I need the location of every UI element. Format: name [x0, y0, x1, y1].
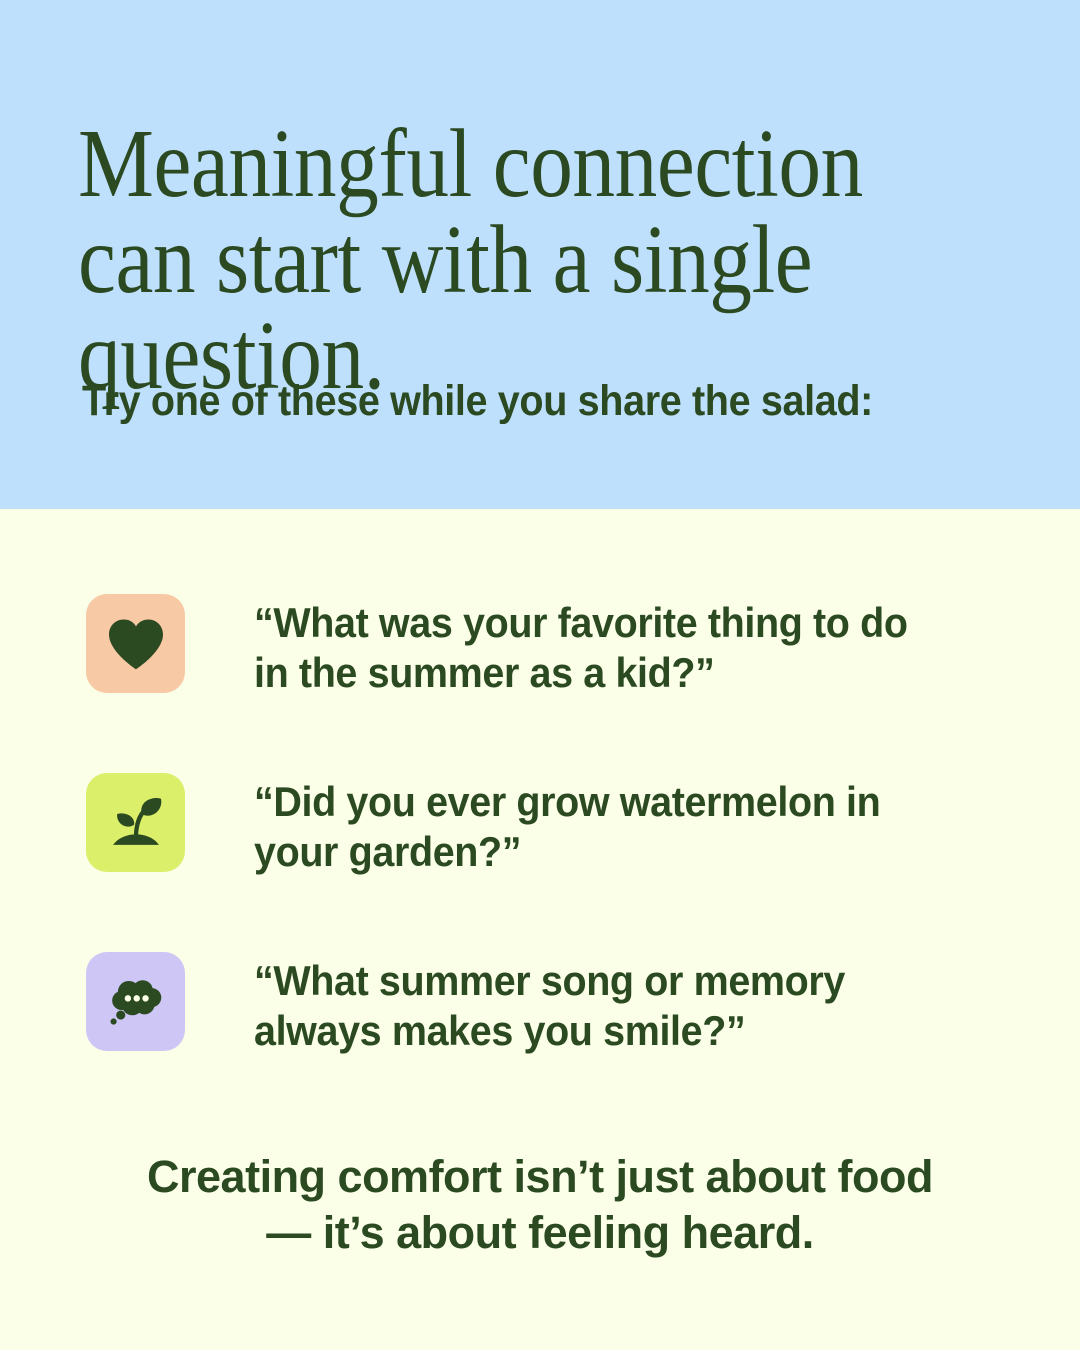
question-icon-tile	[86, 773, 185, 872]
poster-canvas: Meaningful connection can start with a s…	[0, 0, 1080, 1350]
heart-icon	[106, 617, 166, 671]
question-text: “Did you ever grow watermelon in your ga…	[254, 773, 951, 878]
list-item: “What summer song or memory always makes…	[86, 952, 996, 1057]
page-title: Meaningful connection can start with a s…	[78, 116, 905, 404]
question-list: “What was your favorite thing to do in t…	[86, 594, 996, 1056]
closing-statement: Creating comfort isn’t just about food —…	[0, 1149, 1080, 1261]
list-item: “Did you ever grow watermelon in your ga…	[86, 773, 996, 878]
question-text: “What was your favorite thing to do in t…	[254, 594, 951, 699]
seedling-icon	[105, 793, 167, 851]
question-text: “What summer song or memory always makes…	[254, 952, 951, 1057]
question-icon-tile	[86, 594, 185, 693]
thought-bubble-icon	[105, 972, 167, 1030]
list-item: “What was your favorite thing to do in t…	[86, 594, 996, 699]
hero-panel: Meaningful connection can start with a s…	[0, 0, 1080, 509]
hero-subhead: Try one of these while you share the sal…	[82, 378, 965, 424]
question-icon-tile	[86, 952, 185, 1051]
body-panel: “What was your favorite thing to do in t…	[0, 509, 1080, 1350]
